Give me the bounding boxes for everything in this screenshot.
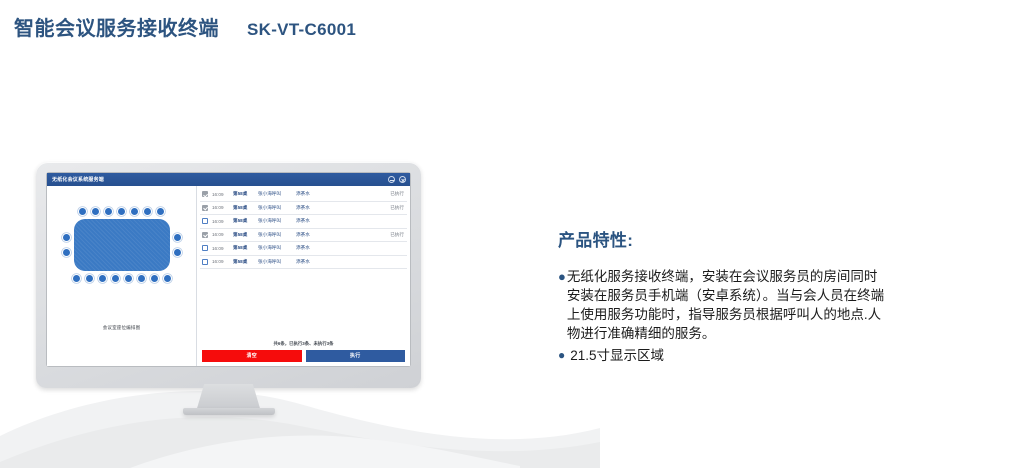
seat-map: [58, 207, 186, 305]
monitor-neck: [197, 384, 261, 410]
seat-column-right: [173, 233, 182, 257]
task-checkbox[interactable]: [202, 259, 208, 265]
execute-button[interactable]: 执行: [306, 350, 406, 362]
task-item: 添茶水: [296, 245, 378, 251]
page-header: 智能会议服务接收终端 SK-VT-C6001: [14, 12, 356, 41]
table-with-side-seats: [58, 219, 186, 271]
seat[interactable]: [173, 248, 182, 257]
minimize-icon[interactable]: [388, 176, 395, 183]
task-time: 16:09: [212, 219, 229, 224]
task-table: 第58桌: [233, 218, 254, 224]
seat[interactable]: [143, 207, 152, 216]
task-panel: 16:09第58桌张小海呼叫添茶水已执行16:09第58桌张小海呼叫添茶水已执行…: [197, 186, 410, 366]
task-table: 第58桌: [233, 191, 254, 197]
monitor-bezel: 无纸化会议系统服务端: [36, 162, 421, 388]
task-time: 16:09: [212, 232, 229, 237]
product-page: 智能会议服务接收终端 SK-VT-C6001 无纸化会议系统服务端: [0, 0, 1024, 468]
task-row[interactable]: 16:09第58桌张小海呼叫添茶水: [200, 215, 407, 229]
monitor-mockup: 无纸化会议系统服务端: [36, 162, 421, 402]
task-caller: 张小海呼叫: [258, 259, 292, 265]
monitor-base: [183, 408, 275, 415]
feature-item: ●无纸化服务接收终端，安装在会议服务员的房间同时安装在服务员手机端（安卓系统）。…: [558, 267, 888, 343]
seat[interactable]: [104, 207, 113, 216]
seat[interactable]: [130, 207, 139, 216]
task-item: 添茶水: [296, 218, 378, 224]
page-title: 智能会议服务接收终端: [14, 12, 219, 41]
product-model: SK-VT-C6001: [247, 20, 356, 40]
task-caller: 张小海呼叫: [258, 232, 292, 238]
task-table: 第58桌: [233, 259, 254, 265]
task-table: 第58桌: [233, 232, 254, 238]
task-item: 添茶水: [296, 191, 378, 197]
task-row[interactable]: 16:09第58桌张小海呼叫添茶水: [200, 242, 407, 256]
task-list: 16:09第58桌张小海呼叫添茶水已执行16:09第58桌张小海呼叫添茶水已执行…: [200, 188, 407, 337]
task-row[interactable]: 16:09第58桌张小海呼叫添茶水已执行: [200, 229, 407, 243]
seat-map-caption: 会议室座位编排图: [103, 325, 141, 331]
seat[interactable]: [111, 274, 120, 283]
seat-row-top: [58, 207, 186, 216]
task-row[interactable]: 16:09第58桌张小海呼叫添茶水: [200, 256, 407, 270]
features-heading: 产品特性:: [558, 226, 888, 251]
task-item: 添茶水: [296, 205, 378, 211]
conference-table: [74, 219, 170, 271]
task-status: 已执行: [382, 191, 404, 197]
task-table: 第58桌: [233, 245, 254, 251]
seat[interactable]: [150, 274, 159, 283]
task-checkbox[interactable]: [202, 191, 208, 197]
seat-column-left: [62, 233, 71, 257]
task-item: 添茶水: [296, 259, 378, 265]
task-status: 已执行: [382, 232, 404, 238]
app-titlebar: 无纸化会议系统服务端: [47, 173, 410, 186]
task-summary: 共6条，已执行3条、未执行3条: [200, 337, 407, 350]
seat[interactable]: [78, 207, 87, 216]
task-caller: 张小海呼叫: [258, 245, 292, 251]
task-time: 16:09: [212, 259, 229, 264]
screen: 无纸化会议系统服务端: [47, 173, 410, 366]
feature-text: 无纸化服务接收终端，安装在会议服务员的房间同时安装在服务员手机端（安卓系统）。当…: [567, 267, 888, 343]
window-controls: [388, 176, 406, 183]
task-row[interactable]: 16:09第58桌张小海呼叫添茶水已执行: [200, 188, 407, 202]
seat[interactable]: [156, 207, 165, 216]
seat[interactable]: [98, 274, 107, 283]
task-checkbox[interactable]: [202, 245, 208, 251]
task-time: 16:09: [212, 205, 229, 210]
task-caller: 张小海呼叫: [258, 218, 292, 224]
monitor-screen-frame: 无纸化会议系统服务端: [46, 172, 411, 367]
task-table: 第58桌: [233, 205, 254, 211]
bullet-icon: ●: [558, 267, 566, 286]
task-checkbox[interactable]: [202, 205, 208, 211]
features-list: ●无纸化服务接收终端，安装在会议服务员的房间同时安装在服务员手机端（安卓系统）。…: [558, 267, 888, 365]
task-caller: 张小海呼叫: [258, 191, 292, 197]
seat[interactable]: [163, 274, 172, 283]
task-item: 添茶水: [296, 232, 378, 238]
seat[interactable]: [62, 233, 71, 242]
task-time: 16:09: [212, 192, 229, 197]
task-time: 16:09: [212, 246, 229, 251]
task-caller: 张小海呼叫: [258, 205, 292, 211]
seat[interactable]: [72, 274, 81, 283]
task-status: 已执行: [382, 205, 404, 211]
seat[interactable]: [173, 233, 182, 242]
feature-text: 21.5寸显示区域: [570, 346, 888, 365]
seat[interactable]: [124, 274, 133, 283]
close-icon[interactable]: [399, 176, 406, 183]
seat[interactable]: [85, 274, 94, 283]
app-title: 无纸化会议系统服务端: [52, 176, 104, 183]
seat[interactable]: [91, 207, 100, 216]
features-section: 产品特性: ●无纸化服务接收终端，安装在会议服务员的房间同时安装在服务员手机端（…: [558, 226, 888, 365]
task-row[interactable]: 16:09第58桌张小海呼叫添茶水已执行: [200, 202, 407, 216]
task-checkbox[interactable]: [202, 232, 208, 238]
bullet-icon: ●: [558, 346, 565, 365]
seat[interactable]: [117, 207, 126, 216]
task-checkbox[interactable]: [202, 218, 208, 224]
seat-row-bottom: [58, 274, 186, 283]
clear-button[interactable]: 清空: [202, 350, 302, 362]
task-actions: 清空 执行: [200, 350, 407, 363]
app-body: 会议室座位编排图 16:09第58桌张小海呼叫添茶水已执行16:09第58桌张小…: [47, 186, 410, 366]
seat[interactable]: [62, 248, 71, 257]
seat-map-panel: 会议室座位编排图: [47, 186, 197, 366]
seat[interactable]: [137, 274, 146, 283]
feature-item: ●21.5寸显示区域: [558, 346, 888, 365]
